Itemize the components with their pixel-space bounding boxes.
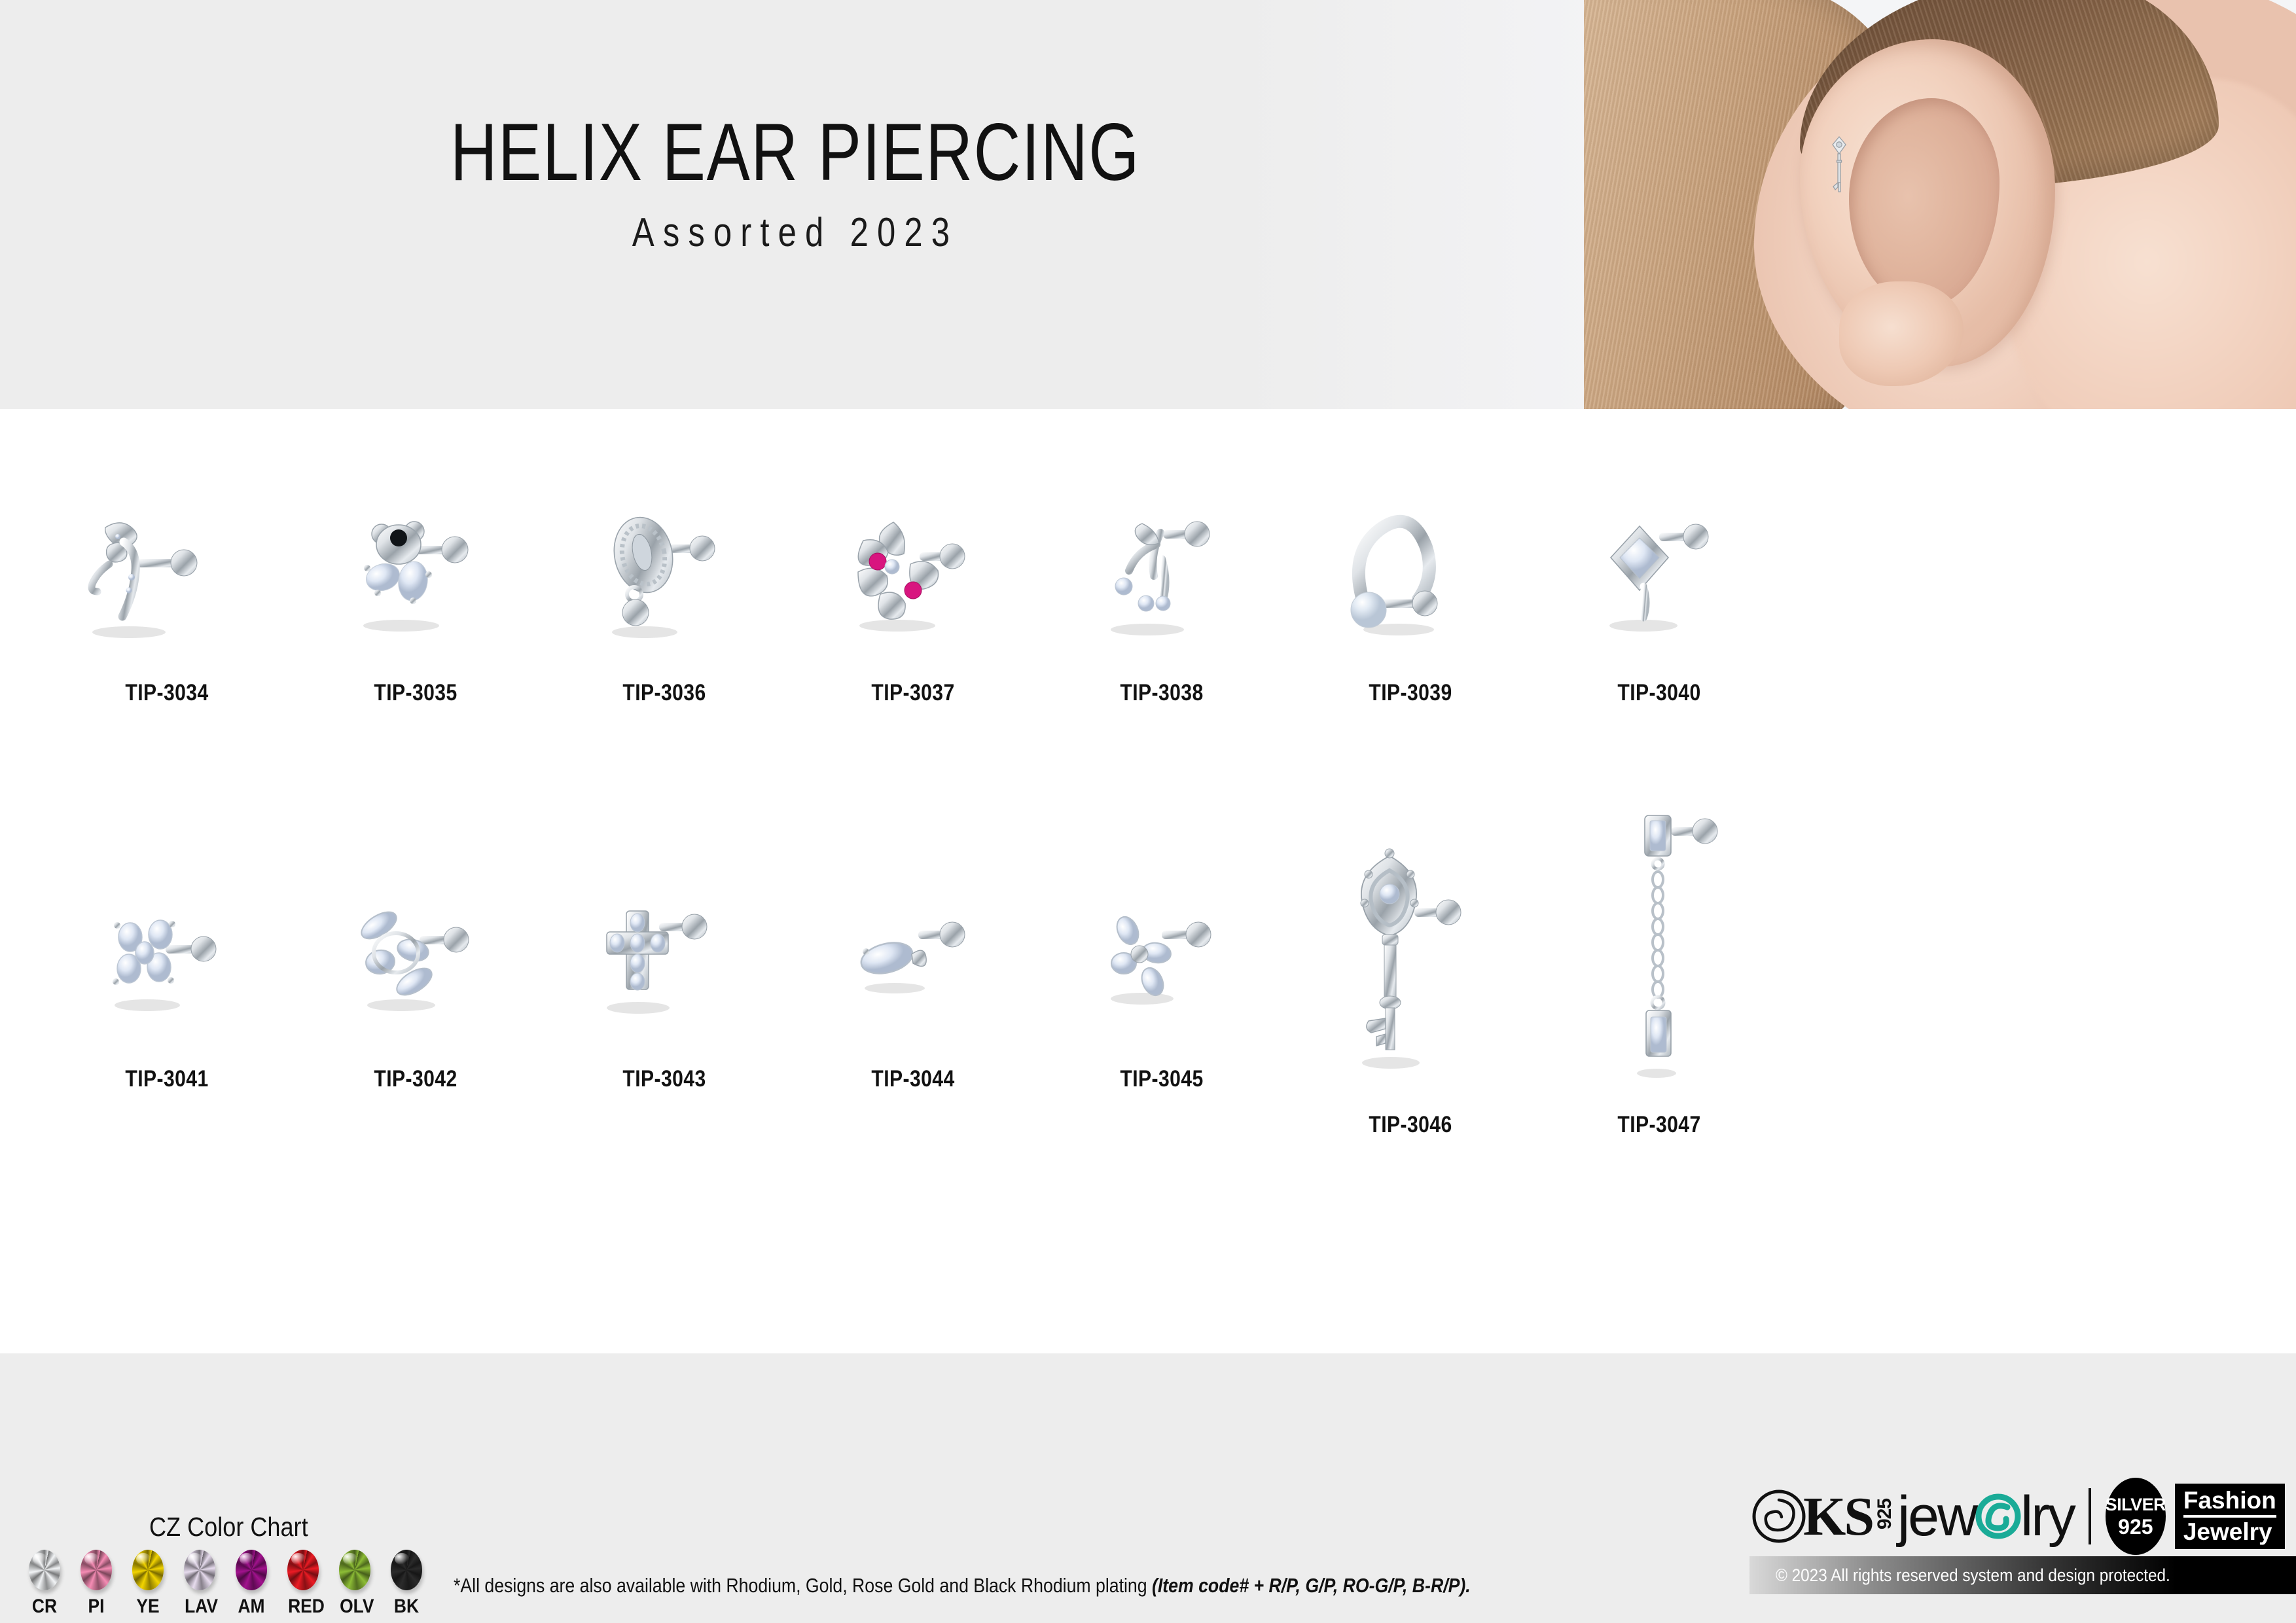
product-image-branch-with-cz [1024,481,1299,677]
product-code: TIP-3036 [546,680,782,706]
product-code: TIP-3047 [1541,1112,1777,1138]
logo-divider [2089,1488,2091,1544]
product-cell[interactable]: TIP-3040 [1522,481,1797,706]
page-title: HELIX EAR PIERCING [159,111,1431,194]
cz-swatch-olv: OLV [338,1550,372,1618]
cz-swatch-am: AM [234,1550,268,1618]
product-cell[interactable]: TIP-3038 [1024,481,1299,706]
cz-label: YE [133,1596,163,1618]
page-subtitle: Assorted 2023 [143,209,1448,256]
badge-silver-line2: 925 [2118,1516,2153,1537]
product-cell[interactable]: TIP-3035 [278,481,553,706]
logo-925-mark: 925 [1874,1499,1896,1529]
logo-jewelry-part1: jew [1897,1484,1976,1549]
teal-swirl-e-icon [1975,1493,2022,1540]
product-cell[interactable]: TIP-3037 [776,481,1050,706]
product-code: TIP-3035 [297,680,533,706]
silver-925-badge: SILVER 925 [2106,1478,2166,1555]
cz-label: PI [81,1596,111,1618]
cz-label: BK [391,1596,422,1618]
product-image-cz-cluster-cross [1024,867,1299,1063]
product-cell[interactable]: TIP-3046 [1273,828,1548,1138]
product-code: TIP-3034 [48,680,285,706]
product-code: TIP-3041 [48,1066,285,1092]
worn-key-piercing-icon [1827,134,1851,213]
gem-icon [184,1550,215,1590]
gem-icon [29,1550,60,1590]
swirl-ornament-icon [1751,1488,1807,1544]
copyright-text: © 2023 All rights reserved system and de… [1776,1565,2170,1586]
product-image-princess-cz-diamond [1522,481,1797,677]
disclaimer-text: *All designs are also available with Rho… [454,1574,1152,1597]
cz-label: LAV [185,1596,215,1618]
product-cell[interactable]: TIP-3044 [776,867,1050,1092]
product-grid: TIP-3034 TIP-3035 [0,409,2296,1353]
badge-fashion-line1: Fashion [2183,1488,2276,1513]
plating-disclaimer: *All designs are also available with Rho… [454,1574,1471,1597]
product-cell[interactable]: TIP-3047 [1522,802,1797,1138]
product-code: TIP-3039 [1292,680,1528,706]
badge-fashion-line2: Jewelry [2183,1515,2276,1544]
cz-swatch-ye: YE [131,1550,165,1618]
product-image-lily-flower-pink-cz [776,481,1050,677]
cz-swatch-cr: CR [27,1550,62,1618]
product-cell[interactable]: TIP-3041 [29,867,304,1092]
product-code: TIP-3040 [1541,680,1777,706]
product-code: TIP-3043 [546,1066,782,1092]
product-code: TIP-3037 [795,680,1031,706]
product-cell[interactable]: TIP-3045 [1024,867,1299,1092]
product-image-baguette-cz-chain-dangle [1522,802,1797,1109]
disclaimer-codes: (Item code# + R/P, G/P, RO-G/P, B-R/P). [1152,1574,1471,1597]
product-cell[interactable]: TIP-3042 [278,867,553,1092]
product-code: TIP-3042 [297,1066,533,1092]
logo-jewelry-part2: lry [2020,1484,2074,1549]
product-image-bear-with-cz [278,481,553,677]
gem-icon [287,1550,319,1590]
cz-label: CR [29,1596,60,1618]
product-cell[interactable]: TIP-3039 [1273,481,1548,706]
product-code: TIP-3045 [1043,1066,1280,1092]
badge-silver-line1: SILVER [2106,1496,2166,1514]
gem-icon [391,1550,422,1590]
product-image-horseshoe-hoop-pearl [1273,481,1548,677]
product-cell[interactable]: TIP-3036 [527,481,802,706]
cz-swatch-pi: PI [79,1550,113,1618]
copyright-bar: © 2023 All rights reserved system and de… [1749,1556,2296,1594]
cz-swatch-bk: BK [389,1550,423,1618]
cz-swatch-lav: LAV [183,1550,217,1618]
product-code: TIP-3038 [1043,680,1280,706]
product-image-four-stone-cluster [29,867,304,1063]
hero-ear-photo [1584,0,2296,409]
product-image-ornate-vintage-key [1273,828,1548,1109]
gem-icon [236,1550,267,1590]
product-image-fish-marquise-cz [776,867,1050,1063]
cz-label: OLV [340,1596,370,1618]
title-block: HELIX EAR PIERCING Assorted 2023 [0,111,1590,256]
gem-icon [339,1550,370,1590]
logo-ks-text: KS [1803,1485,1873,1548]
cz-swatch-red: RED [286,1550,320,1618]
catalog-page: HELIX EAR PIERCING Assorted 2023 [0,0,2296,1623]
gem-icon [132,1550,164,1590]
cz-chart-title: CZ Color Chart [149,1512,308,1543]
product-image-fairy-figure [29,481,304,677]
cz-color-row: CR PI YE LAV AM RED OLV BK [27,1550,423,1618]
product-cell[interactable]: TIP-3043 [527,867,802,1092]
product-code: TIP-3044 [795,1066,1031,1092]
cz-label: AM [236,1596,266,1618]
product-image-beaded-teardrop-dangle [527,481,802,677]
cz-label: RED [288,1596,318,1618]
product-cell[interactable]: TIP-3034 [29,481,304,706]
brand-logo: KS 925 jew lry SILVER 925 Fashion Jewelr… [1751,1480,2285,1552]
fashion-jewelry-badge: Fashion Jewelry [2175,1484,2285,1548]
product-image-marquise-flower [278,867,553,1063]
product-image-cz-cross [527,867,802,1063]
product-code: TIP-3046 [1292,1112,1528,1138]
gem-icon [81,1550,112,1590]
